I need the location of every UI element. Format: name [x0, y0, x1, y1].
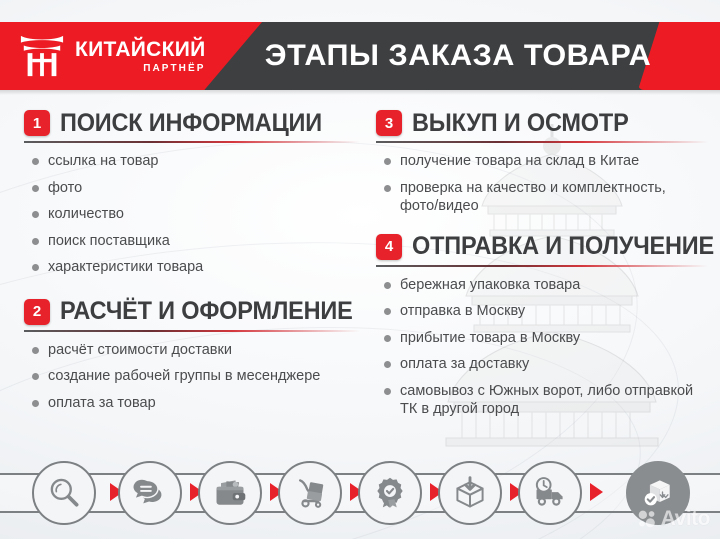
brand-logo[interactable]: КИТАЙСКИЙ ПАРТНЁР	[0, 22, 262, 90]
quality-seal-icon[interactable]	[358, 461, 422, 525]
step-4-list: бережная упаковка товара отправка в Моск…	[376, 276, 708, 419]
process-strip: Avito	[0, 443, 720, 539]
column-left: 1 ПОИСК ИНФОРМАЦИИ ссылка на товар фото …	[24, 106, 360, 420]
list-item: получение товара на склад в Китае	[400, 152, 708, 171]
step-1-header: 1 ПОИСК ИНФОРМАЦИИ	[24, 106, 360, 140]
list-item: самовывоз с Южных ворот, либо отправкой …	[400, 382, 708, 419]
chat-bubbles-icon[interactable]	[118, 461, 182, 525]
list-item: прибытие товара в Москву	[400, 329, 708, 348]
step-3-title: ВЫКУП И ОСМОТР	[412, 109, 629, 138]
list-item: поиск поставщика	[48, 232, 360, 251]
list-item: характеристики товара	[48, 258, 360, 277]
list-item: проверка на качество и комплектность, фо…	[400, 179, 708, 216]
step-1-underline	[24, 141, 360, 143]
step-2-underline	[24, 330, 360, 332]
step-block-1: 1 ПОИСК ИНФОРМАЦИИ ссылка на товар фото …	[24, 106, 360, 277]
brand-name: КИТАЙСКИЙ	[75, 39, 206, 60]
column-right: 3 ВЫКУП И ОСМОТР получение товара на скл…	[376, 106, 708, 427]
step-3-header: 3 ВЫКУП И ОСМОТР	[376, 106, 708, 140]
list-item: фото	[48, 179, 360, 198]
list-item: количество	[48, 205, 360, 224]
step-2-header: 2 РАСЧЁТ И ОФОРМЛЕНИЕ	[24, 295, 360, 329]
list-item: бережная упаковка товара	[400, 276, 708, 295]
list-item: ссылка на товар	[48, 152, 360, 171]
magnifier-icon[interactable]	[32, 461, 96, 525]
step-block-3: 3 ВЫКУП И ОСМОТР получение товара на скл…	[376, 106, 708, 216]
step-4-underline	[376, 265, 708, 267]
step-2-number-badge: 2	[24, 299, 50, 325]
step-3-list: получение товара на склад в Китае провер…	[376, 152, 708, 216]
step-1-number-badge: 1	[24, 110, 50, 136]
list-item: расчёт стоимости доставки	[48, 341, 360, 360]
verified-box-icon[interactable]	[626, 461, 690, 525]
infographic-page: ЭТАПЫ ЗАКАЗА ТОВАРА КИТАЙСКИЙ	[0, 0, 720, 539]
brand-tagline: ПАРТНЁР	[75, 64, 206, 74]
torii-gate-icon	[18, 33, 66, 79]
step-3-underline	[376, 141, 708, 143]
step-1-title: ПОИСК ИНФОРМАЦИИ	[60, 109, 322, 138]
red-arrow-icon	[590, 483, 603, 501]
package-pack-icon[interactable]	[438, 461, 502, 525]
hand-truck-icon[interactable]	[278, 461, 342, 525]
step-block-2: 2 РАСЧЁТ И ОФОРМЛЕНИЕ расчёт стоимости д…	[24, 295, 360, 413]
step-4-number-badge: 4	[376, 234, 402, 260]
list-item: оплата за товар	[48, 394, 360, 413]
step-1-list: ссылка на товар фото количество поиск по…	[24, 152, 360, 277]
delivery-truck-icon[interactable]	[518, 461, 582, 525]
step-2-list: расчёт стоимости доставки создание рабоч…	[24, 341, 360, 413]
page-header: ЭТАПЫ ЗАКАЗА ТОВАРА КИТАЙСКИЙ	[0, 22, 720, 90]
brand-logo-text: КИТАЙСКИЙ ПАРТНЁР	[75, 39, 206, 74]
wallet-icon[interactable]	[198, 461, 262, 525]
step-2-title: РАСЧЁТ И ОФОРМЛЕНИЕ	[60, 297, 353, 326]
list-item: создание рабочей группы в месенджере	[48, 367, 360, 386]
page-title: ЭТАПЫ ЗАКАЗА ТОВАРА	[244, 22, 672, 90]
step-4-header: 4 ОТПРАВКА И ПОЛУЧЕНИЕ	[376, 230, 708, 264]
step-3-number-badge: 3	[376, 110, 402, 136]
list-item: оплата за доставку	[400, 355, 708, 374]
step-block-4: 4 ОТПРАВКА И ПОЛУЧЕНИЕ бережная упаковка…	[376, 230, 708, 419]
step-4-title: ОТПРАВКА И ПОЛУЧЕНИЕ	[412, 232, 714, 261]
list-item: отправка в Москву	[400, 302, 708, 321]
